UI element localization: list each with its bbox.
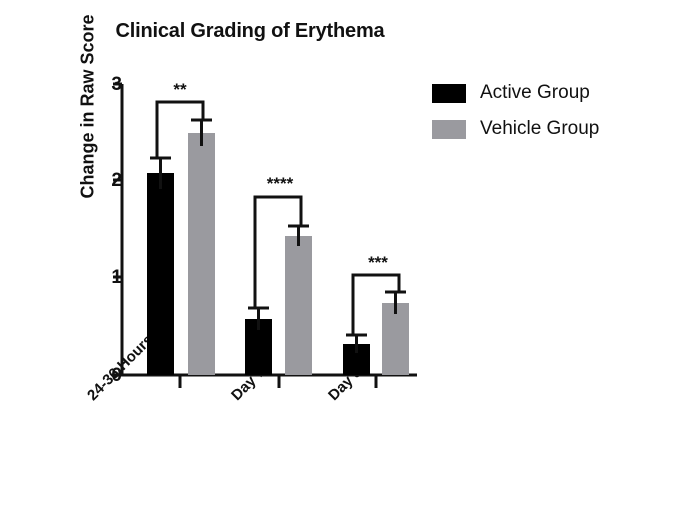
bar-group-day-30 [343,275,409,375]
bar-vehicle-24-36-hours[interactable] [188,133,215,375]
chart-figure: Clinical Grading of Erythema Change in R… [0,0,688,517]
bar-vehicle-day-7[interactable] [285,236,312,375]
bar-group-24-36-hours [147,102,215,375]
bar-active-24-36-hours[interactable] [147,173,174,375]
bar-group-day-7 [245,197,312,375]
chart-plot-area [0,0,688,517]
